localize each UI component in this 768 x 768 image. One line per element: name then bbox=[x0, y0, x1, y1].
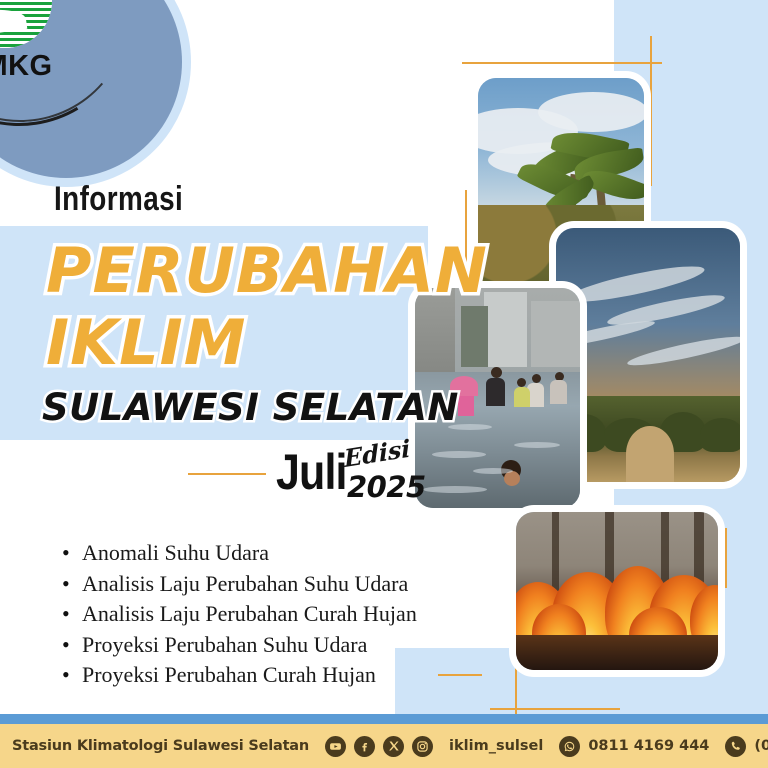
list-item: Analisis Laju Perubahan Curah Hujan bbox=[82, 599, 417, 630]
youtube-icon[interactable] bbox=[325, 736, 346, 757]
page-title-line1: PERUBAHAN bbox=[46, 234, 488, 307]
footer-accent-strip bbox=[0, 714, 768, 724]
edition-year: 2025 bbox=[347, 470, 426, 504]
deco-line-horizontal-bottom bbox=[490, 708, 620, 710]
bmkg-logo-text: BMKG bbox=[0, 50, 53, 83]
bmkg-emblem-icon bbox=[0, 0, 52, 48]
list-item: Proyeksi Perubahan Curah Hujan bbox=[82, 660, 417, 691]
footer-bar: Stasiun Klimatologi Sulawesi Selatan ikl… bbox=[0, 724, 768, 768]
page-subtitle-region: SULAWESI SELATAN bbox=[42, 386, 459, 429]
deco-line-month-rule bbox=[188, 473, 266, 475]
deco-line-list-rule bbox=[438, 674, 482, 676]
phone-icon[interactable] bbox=[725, 736, 746, 757]
whatsapp-icon[interactable] bbox=[559, 736, 580, 757]
deco-line-horizontal-top bbox=[462, 62, 662, 64]
x-twitter-icon[interactable] bbox=[383, 736, 404, 757]
list-item: Analisis Laju Perubahan Suhu Udara bbox=[82, 569, 417, 600]
kicker-informasi: Informasi bbox=[54, 180, 183, 219]
list-item: Proyeksi Perubahan Suhu Udara bbox=[82, 630, 417, 661]
footer-whatsapp-number[interactable]: 0811 4169 444 bbox=[588, 738, 709, 754]
deco-line-vertical-right bbox=[725, 528, 727, 588]
edition-month: Juli bbox=[276, 443, 347, 501]
page-title-line2: IKLIM bbox=[46, 306, 246, 379]
footer-instagram-handle[interactable]: iklim_sulsel bbox=[449, 738, 543, 754]
photo-drought-cracked-land bbox=[556, 228, 740, 482]
footer-organization: Stasiun Klimatologi Sulawesi Selatan bbox=[12, 738, 309, 754]
poster-canvas: BMKG bbox=[0, 0, 768, 768]
instagram-icon[interactable] bbox=[412, 736, 433, 757]
list-item: Anomali Suhu Udara bbox=[82, 538, 417, 569]
topics-list: Anomali Suhu Udara Analisis Laju Perubah… bbox=[60, 538, 417, 691]
photo-forest-fire bbox=[516, 512, 718, 670]
deco-line-vertical-top bbox=[650, 36, 652, 186]
footer-phone-number[interactable]: (0411) 372 367 bbox=[754, 738, 768, 754]
facebook-icon[interactable] bbox=[354, 736, 375, 757]
